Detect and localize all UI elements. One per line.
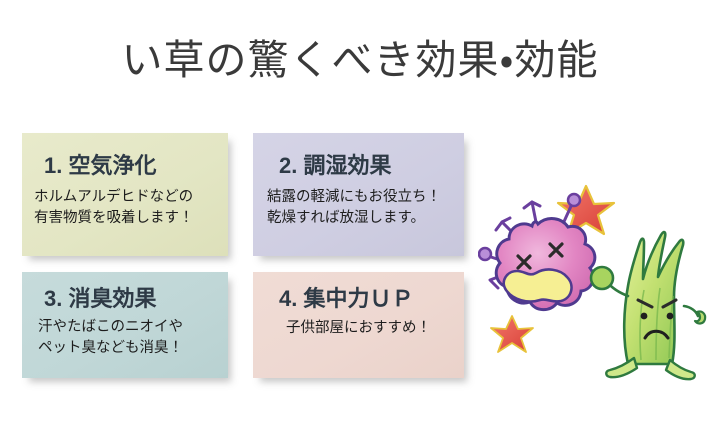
star-icon-bottom [491, 316, 533, 352]
igusa-mascot-illustration [478, 178, 714, 384]
benefit-card-deodorizing: 3. 消臭効果 汗やたばこのニオイや ペット臭なども消臭！ [22, 272, 228, 378]
benefit-card-heading: 1. 空気浄化 [44, 153, 228, 179]
page-title: い草の驚くべき効果・効能 [0, 34, 720, 86]
benefit-card-air-purification: 1. 空気浄化 ホルムアルデヒドなどの 有害物質を吸着します！ [22, 133, 228, 256]
igusa-grass-character [591, 232, 705, 379]
benefit-card-heading: 2. 調湿効果 [279, 153, 464, 179]
benefit-card-body: ホルムアルデヒドなどの 有害物質を吸着します！ [34, 187, 228, 229]
benefit-card-body: 汗やたばこのニオイや ペット臭なども消臭！ [38, 317, 228, 359]
benefit-card-body: 子供部屋におすすめ！ [253, 318, 464, 339]
benefit-card-heading: 3. 消臭効果 [44, 286, 228, 312]
benefit-card-body: 結露の軽減にもお役立ち！ 乾燥すれば放湿します。 [267, 187, 464, 229]
infographic-page: い草の驚くべき効果・効能 1. 空気浄化 ホルムアルデヒドなどの 有害物質を吸着… [0, 0, 720, 429]
benefit-card-concentration-up: 4. 集中力ＵＰ 子供部屋におすすめ！ [253, 272, 464, 378]
benefit-card-humidity-control: 2. 調湿効果 結露の軽減にもお役立ち！ 乾燥すれば放湿します。 [253, 133, 464, 256]
benefit-card-heading: 4. 集中力ＵＰ [279, 286, 464, 312]
